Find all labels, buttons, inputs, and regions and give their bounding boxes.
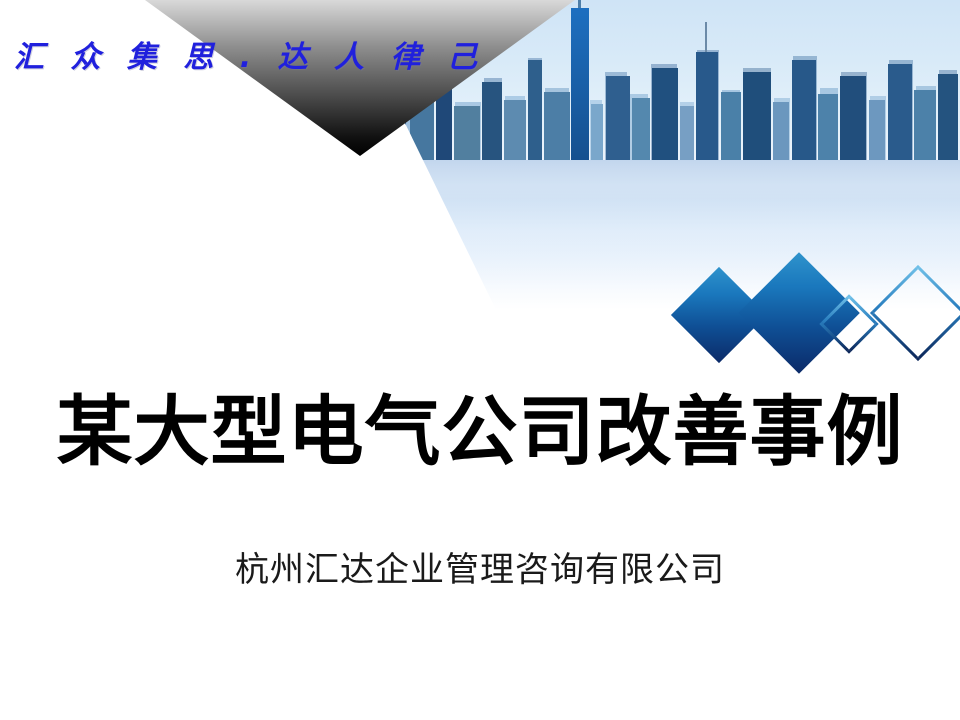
page-title: 某大型电气公司改善事例 bbox=[0, 392, 960, 472]
slide-canvas: 汇 众 集 思 . 达 人 律 己 某大型电气公司改善事例 杭州汇达企业管理咨询… bbox=[0, 0, 960, 720]
slogan-text: 汇 众 集 思 . 达 人 律 己 bbox=[14, 32, 485, 76]
page-subtitle: 杭州汇达企业管理咨询有限公司 bbox=[0, 542, 960, 591]
